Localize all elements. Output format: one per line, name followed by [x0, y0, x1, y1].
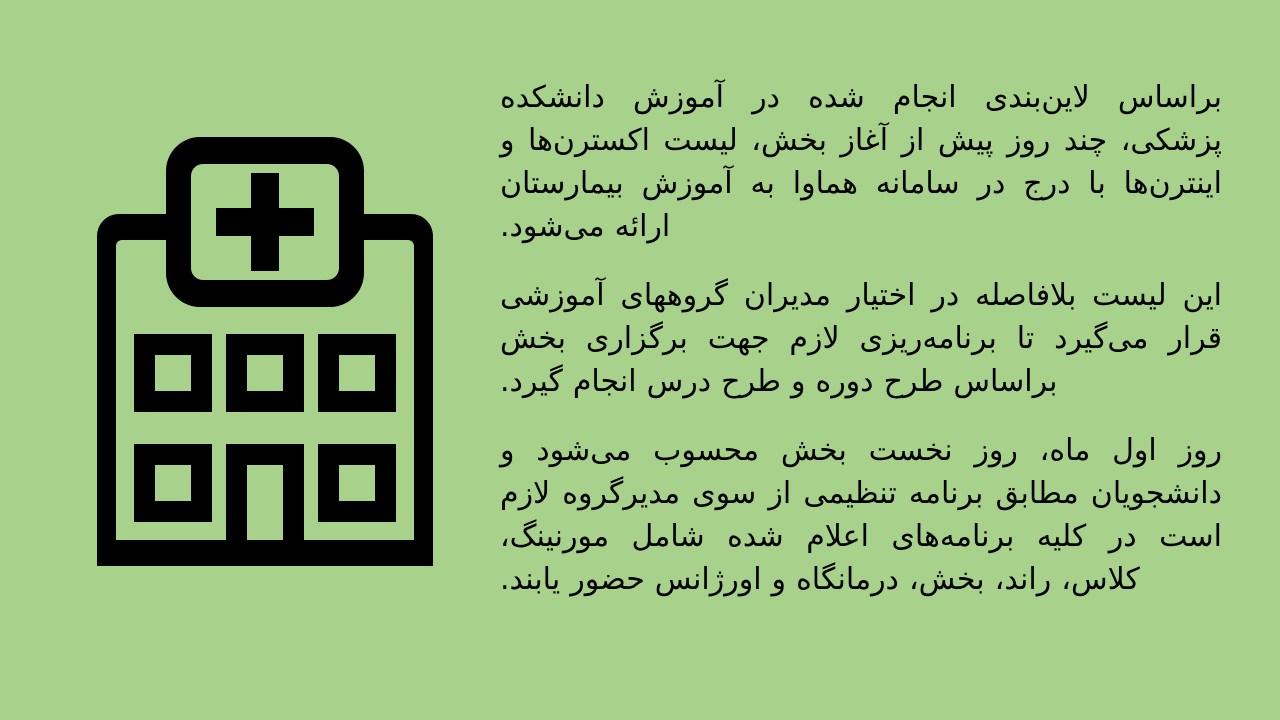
slide-canvas: براساس لاین‌بندی انجام شده در آموزش دانش… — [0, 0, 1280, 720]
hospital-icon-container — [60, 110, 470, 600]
window-bottom-right — [134, 444, 212, 522]
window-top-left — [318, 334, 396, 412]
window-bottom-left — [318, 444, 396, 522]
entrance-door-shape — [226, 444, 304, 540]
medical-cross-icon — [216, 173, 314, 271]
paragraph-3: روز اول ماه، روز نخست بخش محسوب می‌شود و… — [500, 429, 1222, 601]
window-top-right — [134, 334, 212, 412]
body-text-block: براساس لاین‌بندی انجام شده در آموزش دانش… — [500, 76, 1222, 601]
paragraph-1: براساس لاین‌بندی انجام شده در آموزش دانش… — [500, 76, 1222, 248]
paragraph-2: این لیست بلافاصله در اختیار مدیران گروهه… — [500, 274, 1222, 403]
hospital-building-icon — [60, 110, 470, 600]
window-top-center — [226, 334, 304, 412]
